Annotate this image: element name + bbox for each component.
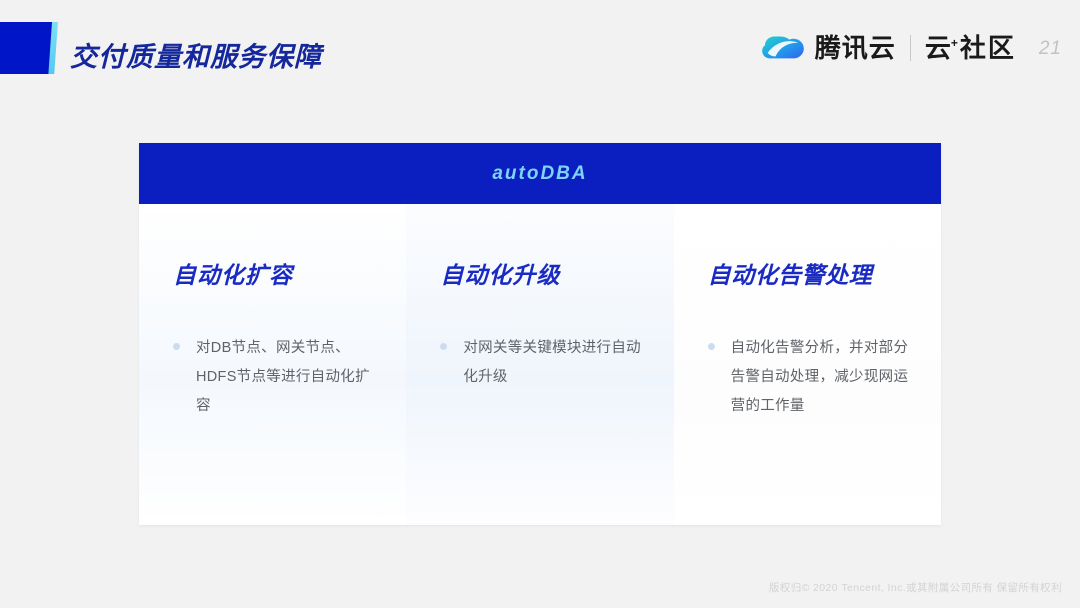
title-accent-square: [0, 22, 52, 74]
tencent-cloud-icon: [762, 33, 804, 63]
copyright-footer: 版权归© 2020 Tencent, Inc.或其附属公司所有 保留所有权利: [769, 580, 1062, 595]
feature-column-auto-scaling: 自动化扩容 对DB节点、网关节点、HDFS节点等进行自动化扩容: [139, 204, 406, 525]
title-accent-mark: [0, 22, 60, 74]
card-header-title: autoDBA: [492, 163, 587, 185]
feature-bullet: 自动化告警分析，并对部分告警自动处理，减少现网运营的工作量: [674, 334, 941, 421]
feature-bullet-text: 对网关等关键模块进行自动化升级: [463, 334, 641, 392]
brand-name: 腾讯云: [815, 35, 896, 61]
brand-community-cloud: 云: [925, 33, 953, 63]
feature-bullet: 对网关等关键模块进行自动化升级: [406, 334, 673, 392]
page-title: 交付质量和服务保障: [70, 35, 322, 74]
page-number: 21: [1039, 39, 1062, 58]
feature-bullet: 对DB节点、网关节点、HDFS节点等进行自动化扩容: [139, 334, 406, 421]
slide-header: 交付质量和服务保障 腾讯云 云+社区 21: [0, 0, 1080, 95]
feature-heading: 自动化告警处理: [674, 256, 941, 290]
feature-column-auto-alarm: 自动化告警处理 自动化告警分析，并对部分告警自动处理，减少现网运营的工作量: [674, 204, 941, 525]
bullet-dot-icon: [708, 343, 715, 350]
brand-divider: [910, 35, 911, 61]
feature-heading: 自动化扩容: [139, 256, 406, 290]
feature-heading: 自动化升级: [406, 256, 673, 290]
brand-community-plus: +: [951, 36, 960, 50]
feature-bullet-text: 自动化告警分析，并对部分告警自动处理，减少现网运营的工作量: [731, 334, 909, 421]
brand-community-suffix: 社区: [960, 33, 1016, 63]
bullet-dot-icon: [173, 343, 180, 350]
card-body: 自动化扩容 对DB节点、网关节点、HDFS节点等进行自动化扩容 自动化升级 对网…: [139, 204, 941, 525]
brand-lockup: 腾讯云 云+社区 21: [762, 28, 1062, 68]
bullet-dot-icon: [440, 343, 447, 350]
feature-bullet-text: 对DB节点、网关节点、HDFS节点等进行自动化扩容: [196, 334, 374, 421]
card-header: autoDBA: [139, 143, 941, 204]
feature-column-auto-upgrade: 自动化升级 对网关等关键模块进行自动化升级: [406, 204, 673, 525]
brand-community: 云+社区: [925, 35, 1016, 61]
autodba-card: autoDBA 自动化扩容 对DB节点、网关节点、HDFS节点等进行自动化扩容 …: [139, 143, 941, 525]
